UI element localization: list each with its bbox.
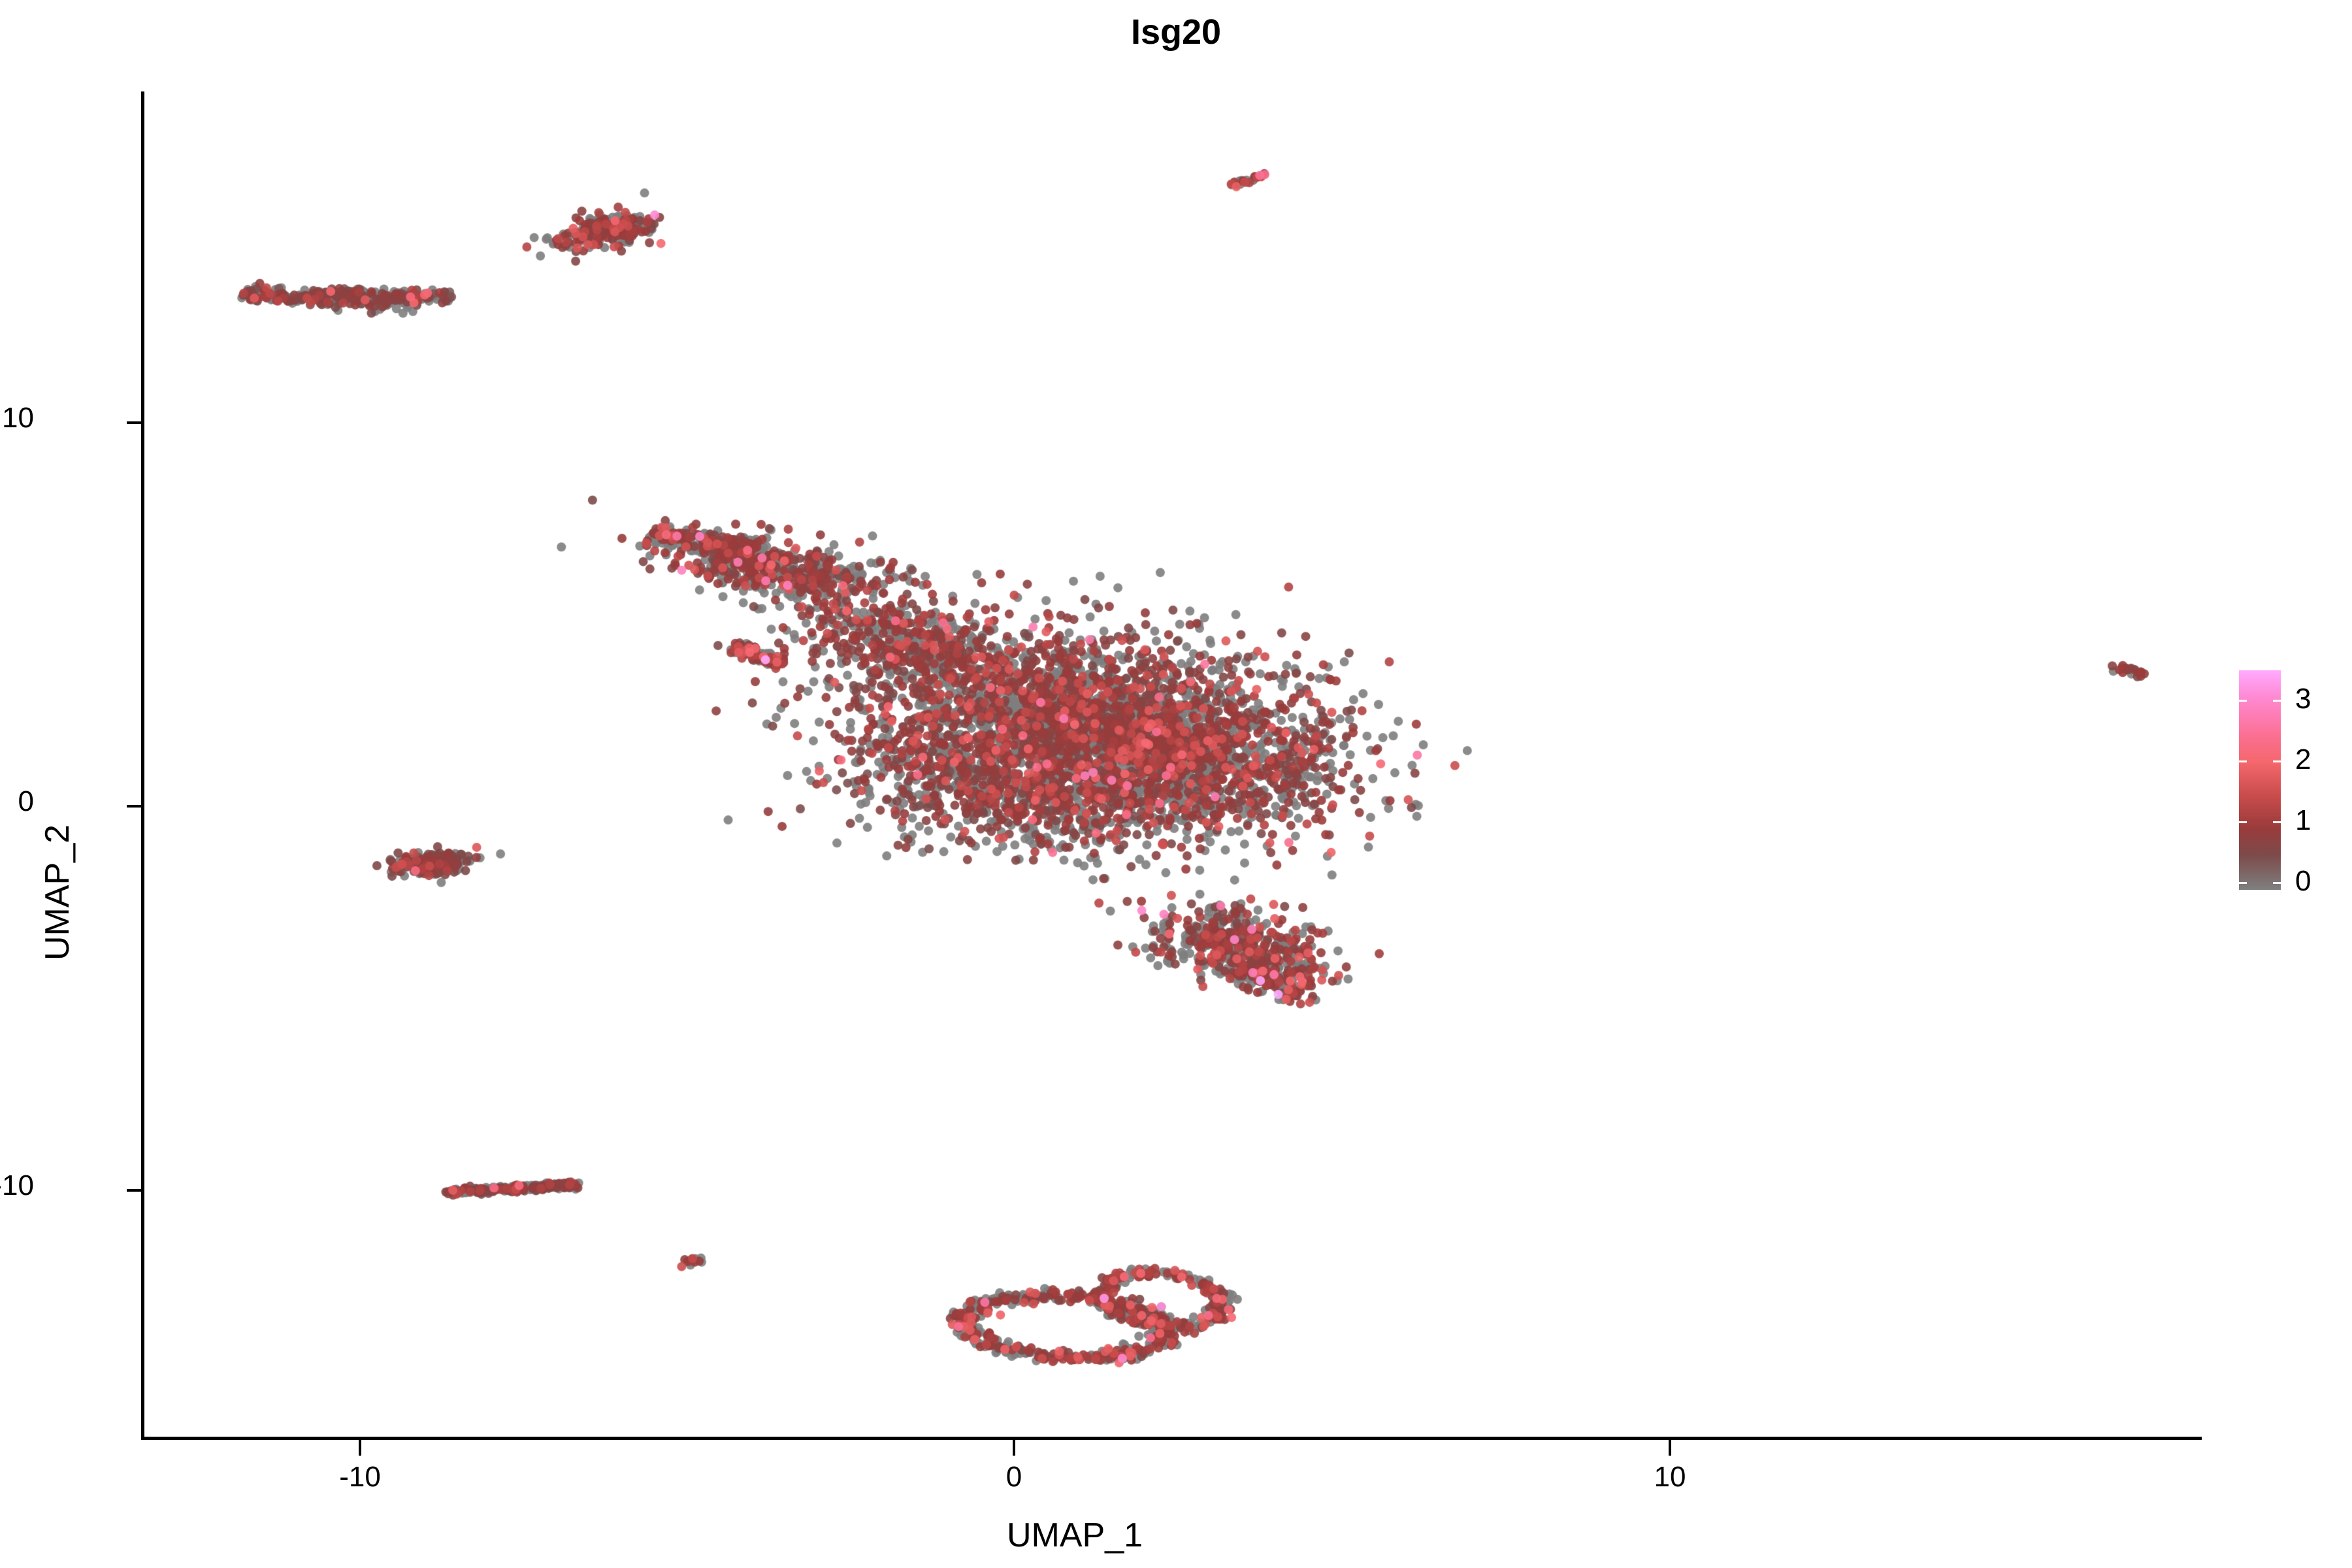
colorbar-label-3: 3 xyxy=(2295,685,2311,713)
y-tick-mark-0 xyxy=(127,805,141,808)
colorbar-tick-3-left xyxy=(2239,700,2247,702)
page-title: Isg20 xyxy=(0,12,2352,52)
colorbar-label-2: 2 xyxy=(2295,745,2311,774)
colorbar-tick-1-left xyxy=(2239,821,2247,823)
plot-panel xyxy=(144,91,2202,1439)
colorbar-tick-1-right xyxy=(2273,821,2281,823)
scatter-points-canvas xyxy=(144,91,2202,1439)
x-axis-line xyxy=(141,1437,2202,1440)
x-axis-label: UMAP_1 xyxy=(977,1516,1173,1555)
colorbar-tick-2-right xyxy=(2273,760,2281,762)
x-tick-mark-10 xyxy=(1669,1440,1671,1456)
y-tick-label--10: -10 xyxy=(0,1169,34,1202)
y-axis-line xyxy=(141,91,144,1439)
colorbar-tick-3-right xyxy=(2273,700,2281,702)
x-tick-mark-0 xyxy=(1013,1440,1015,1456)
y-tick-mark--10 xyxy=(127,1189,141,1192)
chart-root: Isg20 10 0 -10 -10 0 10 UMAP_2 UMAP_1 3 … xyxy=(0,0,2352,1568)
x-tick-label-10: 10 xyxy=(1605,1461,1735,1494)
colorbar-tick-0-left xyxy=(2239,882,2247,884)
x-tick-label--10: -10 xyxy=(295,1461,425,1494)
y-tick-label-10: 10 xyxy=(2,402,34,434)
x-tick-label-0: 0 xyxy=(949,1461,1079,1494)
colorbar-legend: 3 2 1 0 xyxy=(2239,670,2281,890)
colorbar-label-1: 1 xyxy=(2295,806,2311,835)
colorbar-label-0: 0 xyxy=(2295,867,2311,896)
y-axis-label: UMAP_2 xyxy=(38,825,77,960)
y-tick-label-0: 0 xyxy=(18,785,34,818)
colorbar-tick-0-right xyxy=(2273,882,2281,884)
y-tick-mark-10 xyxy=(127,421,141,424)
colorbar-tick-2-left xyxy=(2239,760,2247,762)
colorbar-gradient xyxy=(2239,670,2281,890)
x-tick-mark--10 xyxy=(359,1440,361,1456)
